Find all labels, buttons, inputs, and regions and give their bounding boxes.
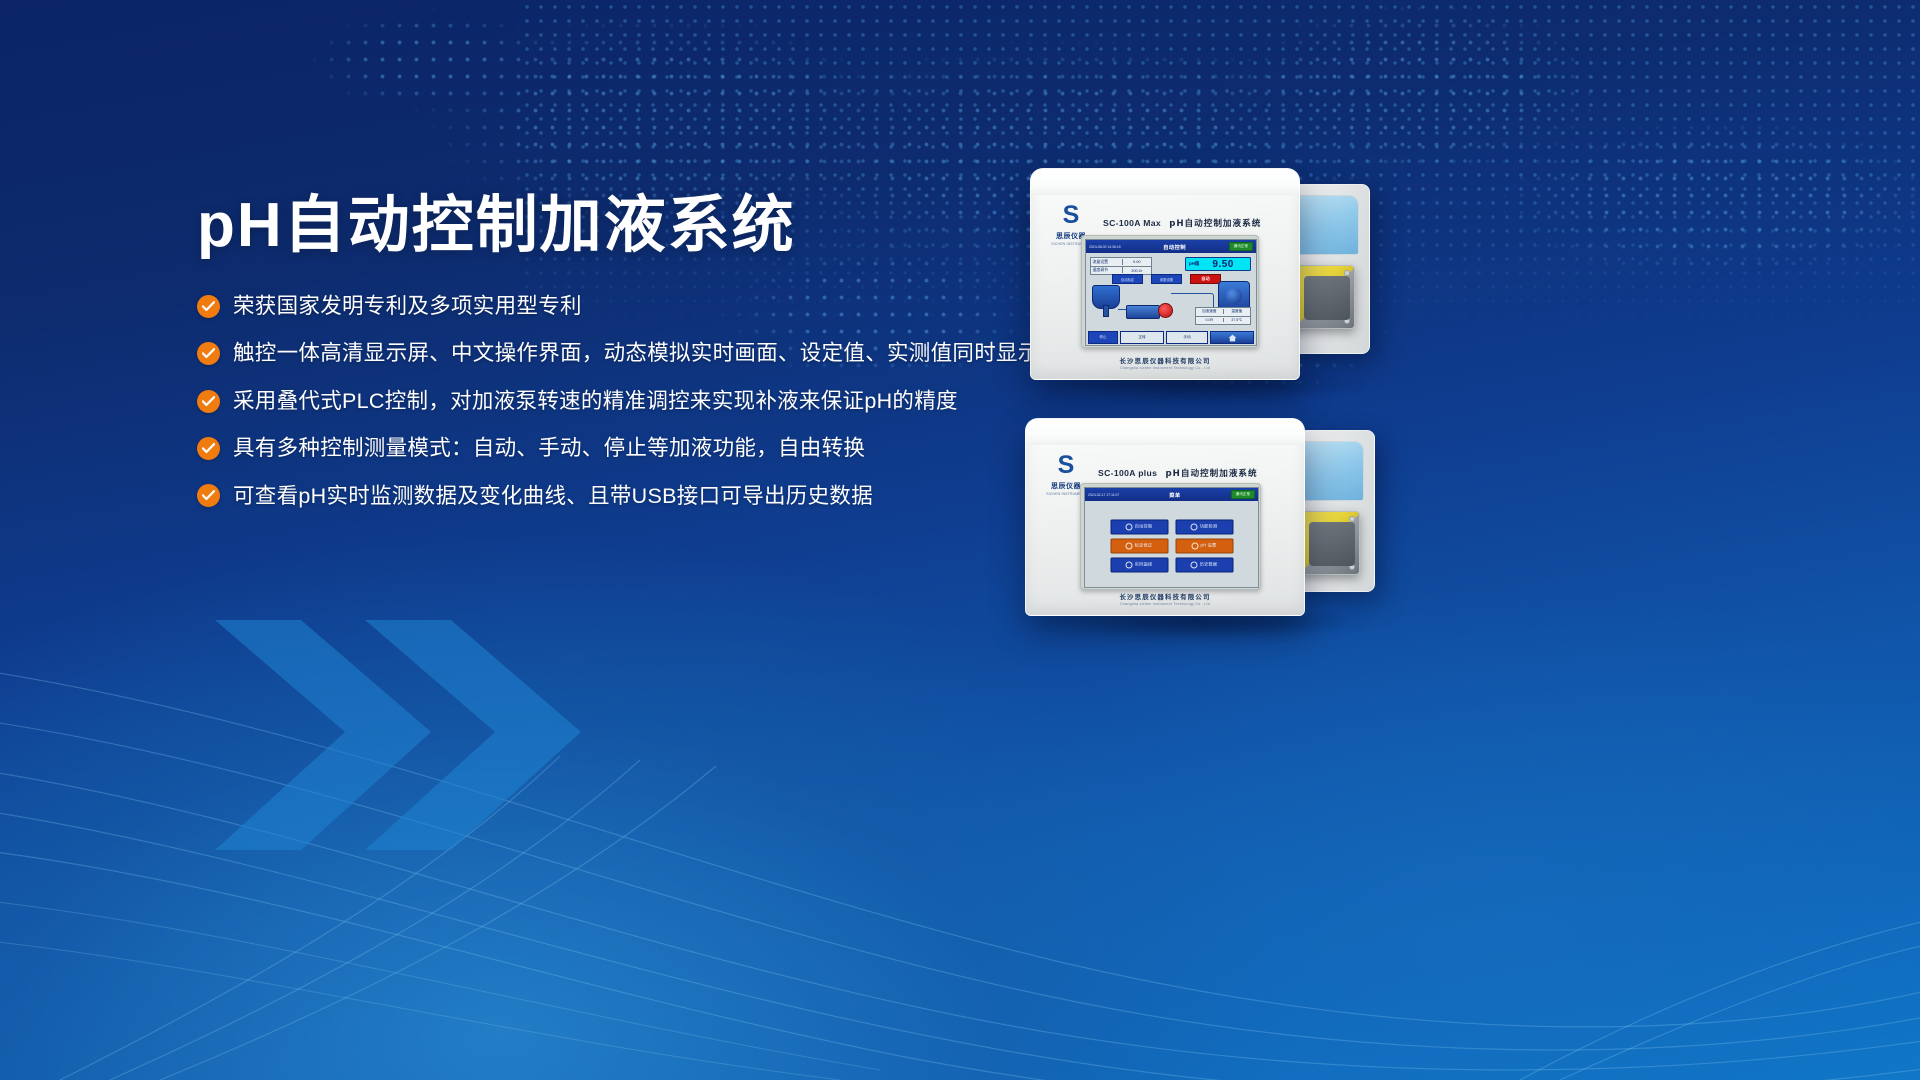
device-model-desc: pH自动控制加液系统	[1169, 219, 1261, 229]
measure-header: 加液速度	[1196, 309, 1224, 314]
bullet-text: 具有多种控制测量模式：自动、手动、停止等加液功能，自由转换	[233, 434, 865, 462]
menu-item-ph-settings[interactable]: pH 设置	[1175, 538, 1233, 553]
menu-item-function-test[interactable]: 功能检测	[1175, 519, 1233, 534]
hmi-status-bar: 2024-08-03 14:36:18 自动控制 通讯正常	[1086, 240, 1256, 253]
ph-value: 9.50	[1199, 259, 1247, 270]
menu-item-label: 标定修正	[1135, 543, 1153, 549]
measurement-table: 加液速度 温度值 0.0R 37.5℃	[1195, 307, 1251, 325]
hmi-button-row: 自动标定 参数设置 自动	[1112, 274, 1221, 284]
cabinet-window	[1296, 441, 1364, 501]
settings-button[interactable]: 参数设置	[1151, 274, 1182, 284]
device-top-face	[1031, 169, 1299, 195]
measure-header: 温度值	[1224, 309, 1251, 314]
cabinet-window	[1291, 195, 1359, 255]
param-key: 速度调节	[1091, 267, 1123, 273]
menu-item-auto-control[interactable]: 自动控制	[1110, 519, 1168, 534]
parameter-table: 流量设置 9.00 速度调节 200.0r	[1090, 257, 1152, 275]
device-model: SC-100A plus	[1098, 468, 1157, 478]
company-name-en: Changsha sichen Instrument Technology Co…	[1031, 366, 1299, 370]
hmi-touchscreen-top[interactable]: 2024-08-03 14:36:18 自动控制 通讯正常 流量设置 9.00 …	[1081, 235, 1259, 348]
tune-icon	[1126, 542, 1133, 549]
bullet-text: 触控一体高清显示屏、中文操作界面，动态模拟实时画面、设定值、实测值同时显示	[233, 339, 1040, 367]
bullet-text: 可查看pH实时监测数据及变化曲线、且带USB接口可导出历史数据	[233, 482, 873, 510]
hmi-timestamp: 2024-02-17 17:11:07	[1088, 493, 1119, 497]
hmi-screen-inner: 2024-08-03 14:36:18 自动控制 通讯正常 流量设置 9.00 …	[1085, 239, 1257, 346]
device-model-line: SC-100A Max pH自动控制加液系统	[1103, 217, 1261, 229]
logo-mark: S	[1051, 203, 1091, 228]
gear-icon	[1192, 542, 1199, 549]
chevron-arrows-decoration	[215, 610, 645, 865]
measure-value: 37.5℃	[1224, 318, 1251, 322]
menu-item-label: pH 设置	[1201, 543, 1217, 549]
hmi-process-diagram: 流量设置 9.00 速度调节 200.0r pH值 9.50	[1086, 253, 1256, 345]
device-model-desc: pH自动控制加液系统	[1166, 469, 1258, 479]
menu-item-label: 自动控制	[1135, 524, 1153, 530]
stop-button[interactable]: 停止	[1088, 331, 1118, 344]
auto-calibrate-button[interactable]: 自动标定	[1112, 274, 1143, 284]
chart-icon	[1126, 561, 1133, 568]
device-top-face	[1026, 419, 1304, 445]
hmi-bottom-bar: 停止 正转 手动	[1086, 330, 1256, 345]
device-body: S 思辰仪器 SICHEN INSTRUMENT SC-100A Max pH自…	[1030, 168, 1300, 380]
table-row: 加液速度 温度值	[1195, 307, 1251, 316]
menu-item-label: 实时曲线	[1135, 562, 1153, 568]
hmi-menu-area: 自动控制 功能检测 标定修正	[1085, 501, 1258, 587]
device-footer-top: 长沙思辰仪器科技有限公司 Changsha sichen Instrument …	[1031, 356, 1299, 371]
home-icon[interactable]	[1210, 331, 1254, 344]
check-icon	[197, 437, 220, 460]
forward-button[interactable]: 正转	[1120, 331, 1164, 344]
device-model-line: SC-100A plus pH自动控制加液系统	[1098, 467, 1258, 479]
param-key: 流量设置	[1091, 259, 1123, 265]
hmi-screen-title: 自动控制	[1163, 243, 1186, 251]
device-footer-bottom: 长沙思辰仪器科技有限公司 Changsha sichen Instrument …	[1026, 592, 1304, 607]
logo-mark: S	[1046, 453, 1086, 478]
gauge-icon	[1191, 523, 1198, 530]
reaction-vessel-graphic	[1092, 285, 1120, 309]
check-icon	[197, 390, 220, 413]
company-name-cn: 长沙思辰仪器科技有限公司	[1031, 356, 1299, 365]
hmi-menu-grid: 自动控制 功能检测 标定修正	[1110, 519, 1233, 572]
bullet-text: 采用叠代式PLC控制，对加液泵转速的精准调控来实现补液来保证pH的精度	[233, 387, 958, 415]
hmi-timestamp: 2024-08-03 14:36:18	[1089, 245, 1120, 249]
hmi-screen-title: 菜单	[1169, 491, 1180, 499]
mode-button[interactable]: 自动	[1190, 274, 1221, 284]
device-sc100a-max: S 思辰仪器 SICHEN INSTRUMENT SC-100A Max pH自…	[1030, 168, 1300, 380]
device-sc100a-plus: S 思辰仪器 SICHEN INSTRUMENT SC-100A plus pH…	[1025, 418, 1305, 616]
hmi-screen-inner: 2024-02-17 17:11:07 菜单 通讯正常 自动控制	[1084, 487, 1259, 588]
status-badge: 通讯正常	[1229, 242, 1253, 251]
device-body: S 思辰仪器 SICHEN INSTRUMENT SC-100A plus pH…	[1025, 418, 1305, 616]
menu-item-history-data[interactable]: 历史数据	[1175, 557, 1233, 572]
check-icon	[197, 342, 220, 365]
device-model: SC-100A Max	[1103, 218, 1161, 228]
database-icon	[1191, 561, 1198, 568]
ph-label: pH值	[1189, 261, 1199, 267]
manual-button[interactable]: 手动	[1166, 331, 1208, 344]
promo-banner: pH自动控制加液系统 荣获国家发明专利及多项实用型专利 触控一体高清显示屏、中文…	[0, 0, 1920, 1080]
hmi-touchscreen-bottom[interactable]: 2024-02-17 17:11:07 菜单 通讯正常 自动控制	[1080, 483, 1261, 590]
table-row: 0.0R 37.5℃	[1195, 317, 1251, 325]
company-name-cn: 长沙思辰仪器科技有限公司	[1026, 592, 1304, 601]
check-icon	[197, 484, 220, 507]
menu-item-label: 历史数据	[1200, 562, 1218, 568]
param-value: 200.0r	[1123, 268, 1152, 273]
menu-item-calibration[interactable]: 标定修正	[1110, 538, 1168, 553]
menu-item-realtime-curve[interactable]: 实时曲线	[1110, 557, 1168, 572]
target-icon	[1126, 523, 1133, 530]
status-badge: 通讯正常	[1231, 490, 1255, 499]
company-name-en: Changsha sichen Instrument Technology Co…	[1026, 602, 1304, 606]
menu-item-label: 功能检测	[1200, 524, 1218, 530]
param-value: 9.00	[1123, 259, 1152, 264]
hmi-status-bar: 2024-02-17 17:11:07 菜单 通讯正常	[1085, 488, 1258, 501]
bullet-text: 荣获国家发明专利及多项实用型专利	[233, 292, 582, 320]
measure-value: 0.0R	[1196, 318, 1224, 322]
table-row: 流量设置 9.00	[1090, 257, 1152, 267]
check-icon	[197, 295, 220, 318]
dosing-pump-graphic	[1126, 305, 1160, 319]
ph-readout: pH值 9.50	[1185, 257, 1251, 271]
